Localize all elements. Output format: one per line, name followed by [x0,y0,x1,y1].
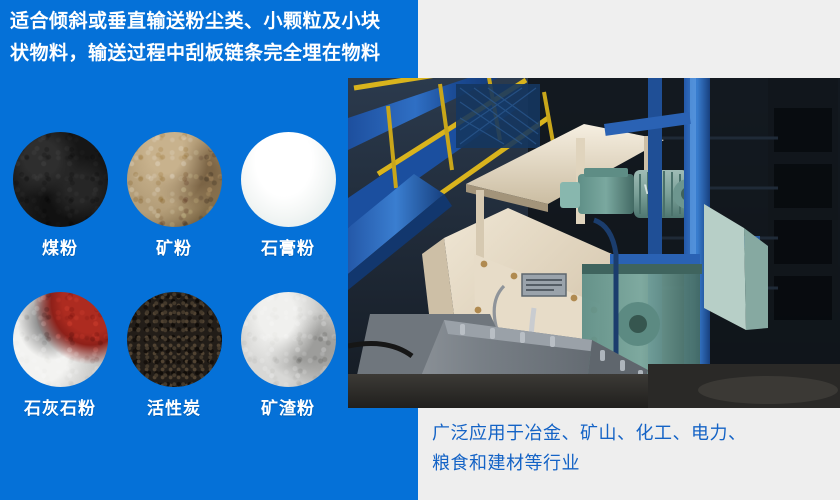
material-item-mineral: 矿粉 [116,126,232,259]
material-swatch-mineral-icon [127,132,222,227]
material-label: 矿渣粉 [230,394,346,419]
application-caption-panel: 广泛应用于冶金、矿山、化工、电力、 粮食和建材等行业 [418,408,840,500]
material-label: 矿粉 [116,234,232,259]
material-label: 活性炭 [116,394,232,419]
headline-text: 适合倾斜或垂直输送粉尘类、小颗粒及小块 状物料，输送过程中刮板链条完全埋在物料 [10,6,418,70]
scraper-conveyor-photo: W [348,78,840,408]
material-label: 石灰石粉 [2,394,118,419]
material-grid: 煤粉 矿粉 石膏粉 石灰石粉 活性炭 矿渣粉 [0,126,348,411]
promo-banner-graphic: 适合倾斜或垂直输送粉尘类、小颗粒及小块 状物料，输送过程中刮板链条完全埋在物料 … [0,0,840,500]
material-item-gypsum: 石膏粉 [230,126,346,259]
application-caption-text: 广泛应用于冶金、矿山、化工、电力、 粮食和建材等行业 [432,418,832,478]
material-swatch-gypsum-icon [241,132,336,227]
material-label: 煤粉 [2,234,118,259]
material-item-slag: 矿渣粉 [230,286,346,419]
material-swatch-slag-icon [241,292,336,387]
material-swatch-carbon-icon [127,292,222,387]
material-label: 石膏粉 [230,234,346,259]
material-swatch-limestone-icon [13,292,108,387]
material-swatch-coal-icon [13,132,108,227]
material-item-carbon: 活性炭 [116,286,232,419]
material-item-limestone: 石灰石粉 [2,286,118,419]
material-item-coal: 煤粉 [2,126,118,259]
